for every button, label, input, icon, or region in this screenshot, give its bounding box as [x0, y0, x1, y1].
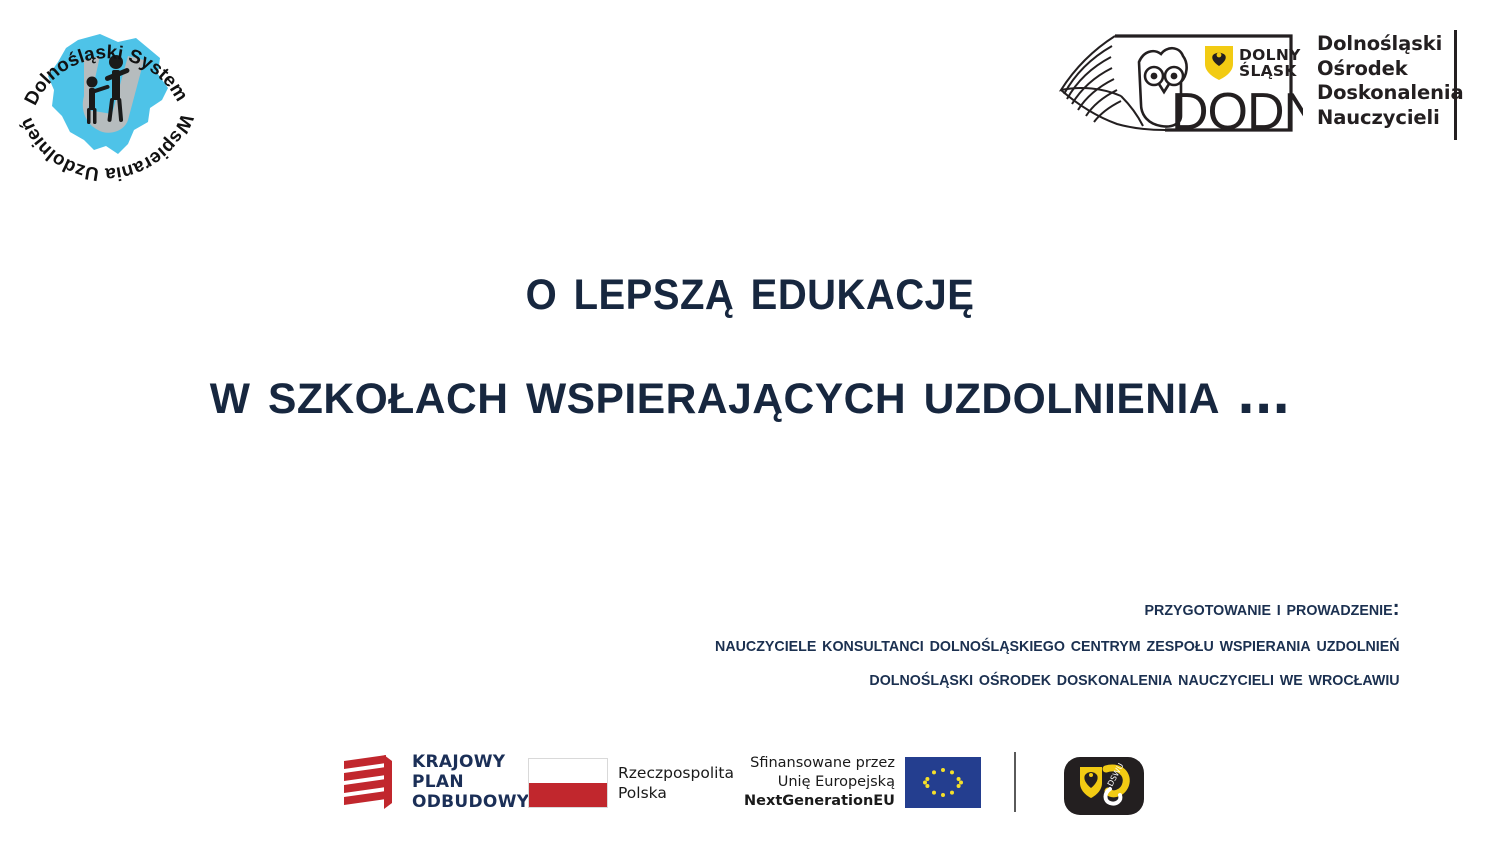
footer-logos: KRAJOWY PLAN ODBUDOWY Rzeczpospolita Pol…	[0, 742, 1500, 832]
dswu-logo: Dolnośląski System Wspierania Uzdolnień	[8, 4, 204, 190]
header-divider	[1454, 30, 1457, 140]
dodn-word-3: Doskonalenia	[1317, 81, 1464, 106]
page-title: O lepszą edukację w szkołach wspierający…	[0, 250, 1500, 432]
credits-institution: Dolnośląski Ośrodek Doskonalenia Nauczyc…	[715, 663, 1400, 693]
republic-text: Rzeczpospolita Polska	[618, 763, 734, 803]
kpo-mark-icon	[340, 753, 400, 811]
dodn-logo: DOLNY ŚLĄSK DODN Dolnośląski Ośrodek Dos…	[1055, 24, 1455, 142]
dodn-full-name: Dolnośląski Ośrodek Doskonalenia Nauczyc…	[1317, 32, 1464, 130]
title-line-2: w szkołach wspierających uzdolnienia ...	[8, 354, 1493, 432]
kpo-text: KRAJOWY PLAN ODBUDOWY	[412, 752, 529, 812]
kpo-line-2: PLAN	[412, 772, 529, 792]
title-line-1: O lepszą edukację	[53, 250, 1448, 328]
svg-text:ŚLĄSK: ŚLĄSK	[1239, 61, 1297, 80]
eu-text: Sfinansowane przez Unię Europejską NextG…	[744, 754, 895, 811]
eu-line-3: NextGenerationEU	[744, 792, 895, 811]
poland-flag-icon	[528, 758, 608, 808]
flag-stripe-white	[529, 759, 607, 783]
eu-line-2: Unię Europejską	[744, 773, 895, 792]
eu-line-1: Sfinansowane przez	[744, 754, 895, 773]
eu-flag-icon	[905, 757, 981, 808]
republic-line-1: Rzeczpospolita	[618, 763, 734, 783]
credits-authors: nauczyciele konsultanci Dolnośląskiego C…	[715, 629, 1400, 659]
republic-of-poland-logo: Rzeczpospolita Polska	[528, 758, 734, 808]
credits-heading: Przygotowanie i prowadzenie:	[715, 593, 1400, 623]
ds-badge-logo: DSWU	[1060, 755, 1148, 817]
kpo-line-3: ODBUDOWY	[412, 792, 529, 812]
dodn-word-1: Dolnośląski	[1317, 32, 1464, 57]
flag-stripe-red	[529, 783, 607, 807]
credits-block: Przygotowanie i prowadzenie: nauczyciele…	[679, 593, 1400, 693]
dodn-word-2: Ośrodek	[1317, 57, 1464, 82]
kpo-logo: KRAJOWY PLAN ODBUDOWY	[340, 752, 529, 812]
republic-line-2: Polska	[618, 783, 734, 803]
slide-canvas: Dolnośląski System Wspierania Uzdolnień	[0, 0, 1500, 845]
dodn-mark-icon: DOLNY ŚLĄSK DODN	[1055, 24, 1303, 142]
dodn-word-4: Nauczycieli	[1317, 106, 1464, 131]
svg-text:DODN: DODN	[1171, 83, 1303, 141]
eu-funding-logo: Sfinansowane przez Unię Europejską NextG…	[744, 754, 981, 811]
footer-divider	[1014, 752, 1016, 812]
kpo-line-1: KRAJOWY	[412, 752, 529, 772]
